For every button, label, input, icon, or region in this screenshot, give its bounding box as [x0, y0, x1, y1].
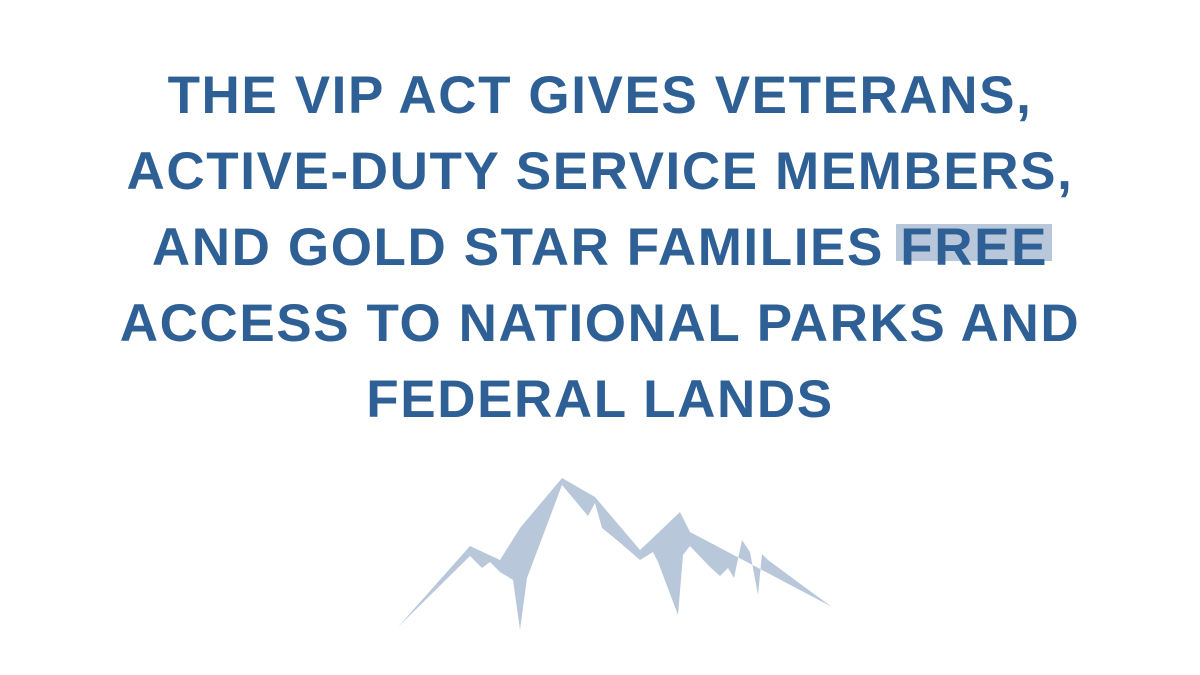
headline-line-4: ACCESS TO NATIONAL PARKS AND	[0, 286, 1200, 362]
headline-line-3: AND GOLD STAR FAMILIES FREE	[0, 210, 1200, 286]
mountain-range-icon	[390, 470, 840, 635]
highlighted-word-free: FREE	[900, 210, 1048, 286]
headline-text: THE VIP ACT GIVES VETERANS, ACTIVE-DUTY …	[0, 58, 1200, 438]
headline-line-2: ACTIVE-DUTY SERVICE MEMBERS,	[0, 134, 1200, 210]
poster-canvas: THE VIP ACT GIVES VETERANS, ACTIVE-DUTY …	[0, 0, 1200, 675]
headline-line-1: THE VIP ACT GIVES VETERANS,	[0, 58, 1200, 134]
headline-line-3-before: AND GOLD STAR FAMILIES	[152, 218, 900, 277]
mountain-silhouette-path	[398, 478, 832, 630]
headline-line-5: FEDERAL LANDS	[0, 362, 1200, 438]
